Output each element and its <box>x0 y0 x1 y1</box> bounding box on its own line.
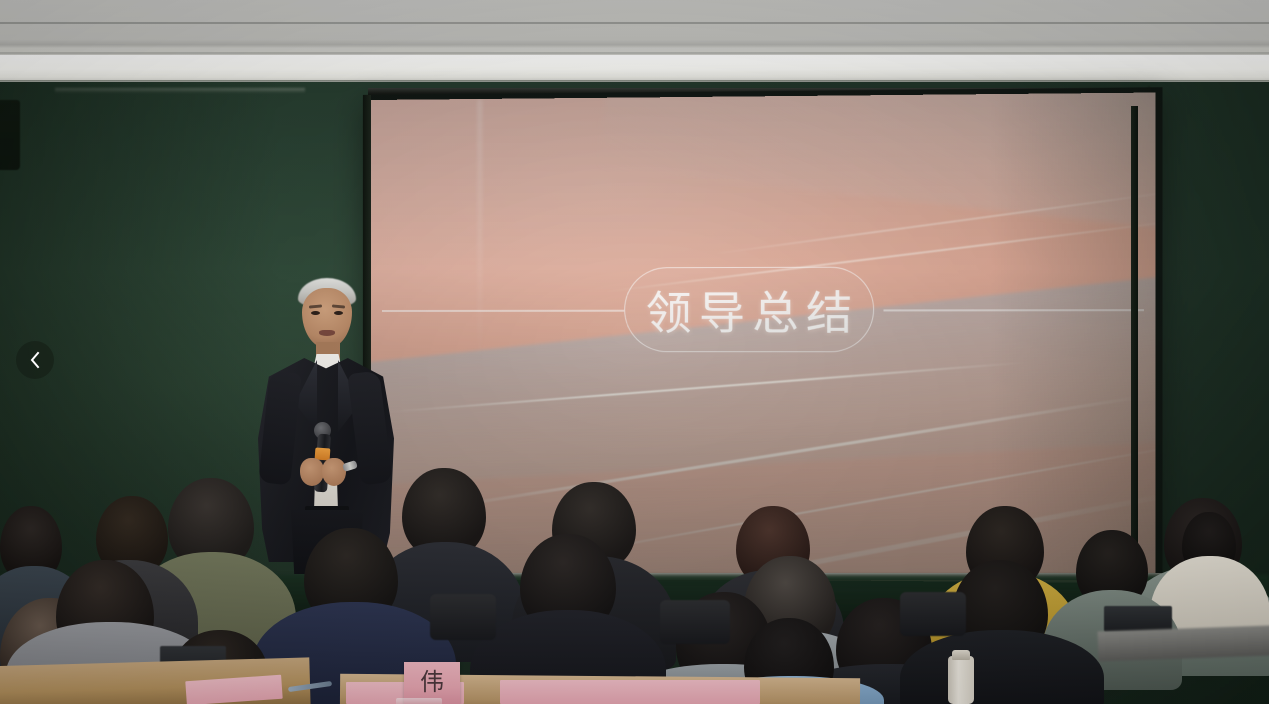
laptop <box>1104 606 1172 632</box>
name-placard-stand <box>396 698 442 704</box>
ceiling-light-strip <box>0 55 1269 81</box>
water-bottle-cap <box>952 650 970 660</box>
previous-image-button[interactable] <box>16 341 54 379</box>
water-bottle <box>948 656 974 704</box>
ceiling-seam <box>0 52 1269 54</box>
name-placard-text: 伟 <box>420 671 444 695</box>
pink-paper <box>500 680 760 704</box>
desk-right <box>1098 625 1269 662</box>
chair-back <box>660 600 730 644</box>
presenter-mouth <box>319 330 335 336</box>
presenter-hand <box>300 458 324 486</box>
presenter-eye <box>334 311 343 315</box>
presenter-figure <box>250 272 400 572</box>
chair-back <box>900 592 966 636</box>
presenter-hand <box>322 458 346 486</box>
chair-back <box>430 594 496 640</box>
screenshot-root: 领导总结 <box>0 0 1269 704</box>
presenter-head <box>302 288 352 348</box>
presenter-eye <box>311 311 320 315</box>
ceiling-seam <box>0 22 1269 24</box>
chevron-left-icon <box>28 350 42 370</box>
